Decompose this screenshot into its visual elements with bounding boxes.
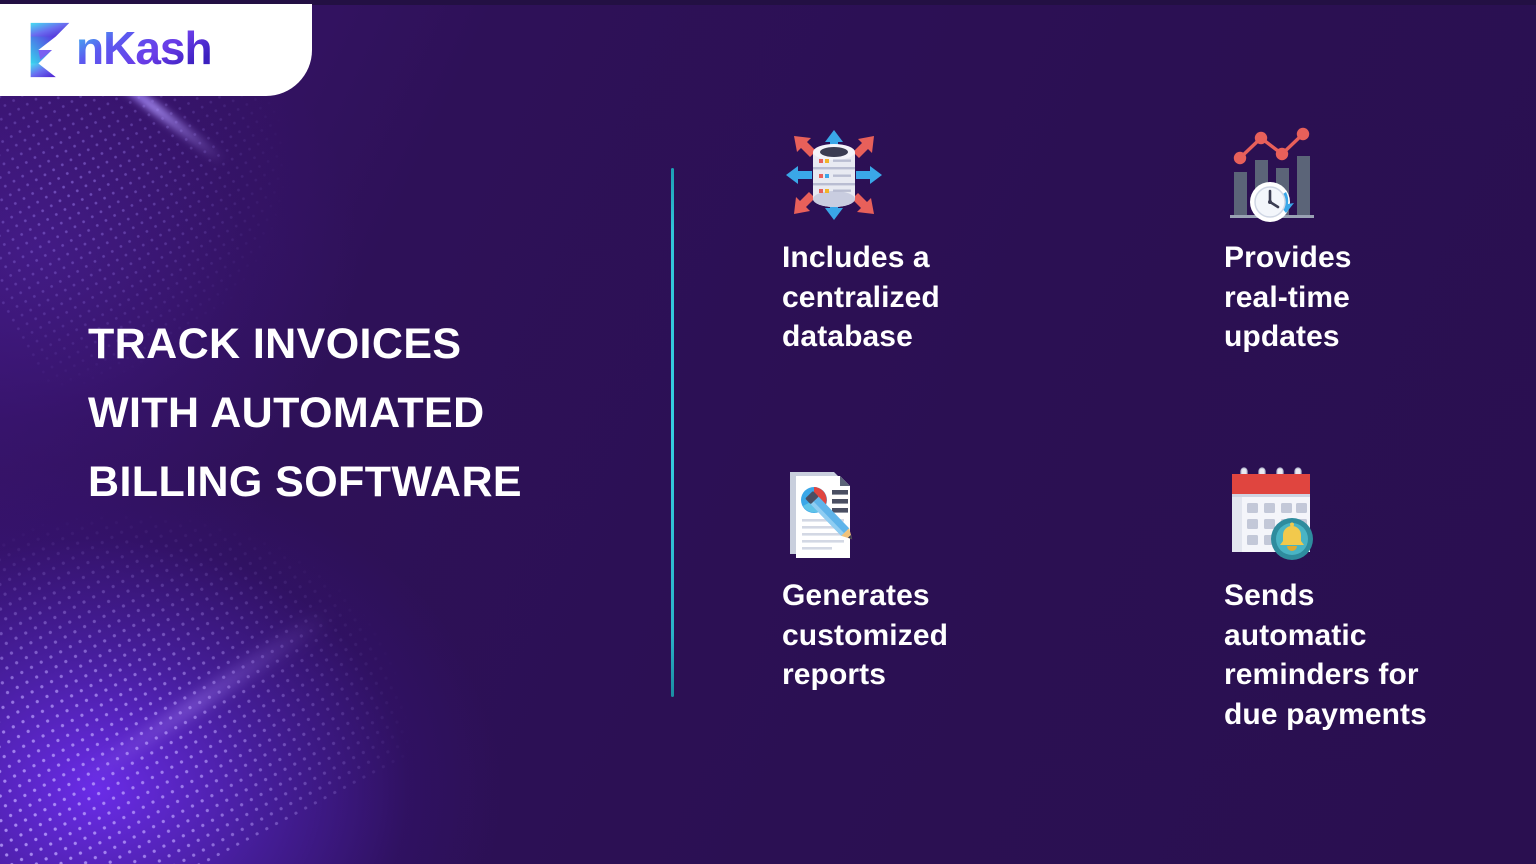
feature-icon-wrap xyxy=(1224,464,1524,562)
feature-label-line: reminders for xyxy=(1224,655,1524,695)
feature-label: Generates customized reports xyxy=(782,576,1082,695)
brand-logo-plate: nKash xyxy=(0,4,312,96)
feature-label: Includes a centralized database xyxy=(782,238,1082,357)
svg-text:nKash: nKash xyxy=(76,24,212,74)
bar-chart-clock-icon xyxy=(1224,126,1320,224)
feature-item-customized-reports: Generates customized reports xyxy=(782,464,1082,695)
infographic-slide: nKash TRACK INVOICES WITH AUTOMATED BILL… xyxy=(0,0,1536,864)
feature-icon-wrap xyxy=(782,126,1082,224)
headline-line-2: WITH AUTOMATED xyxy=(88,379,648,448)
feature-label-line: reports xyxy=(782,655,1082,695)
bell-badge xyxy=(1271,518,1313,560)
feature-label-line: real-time xyxy=(1224,278,1524,318)
feature-item-centralized-database: Includes a centralized database xyxy=(782,126,1082,357)
feature-label-line: due payments xyxy=(1224,695,1524,735)
headline-line-1: TRACK INVOICES xyxy=(88,310,648,379)
feature-item-automatic-reminders: Sends automatic reminders for due paymen… xyxy=(1224,464,1524,734)
feature-item-real-time-updates: Provides real-time updates xyxy=(1224,126,1524,357)
feature-label: Sends automatic reminders for due paymen… xyxy=(1224,576,1524,734)
feature-label-line: Provides xyxy=(1224,238,1524,278)
feature-label: Provides real-time updates xyxy=(1224,238,1524,357)
enkash-logo-mark-icon xyxy=(26,21,74,79)
calendar-bell-icon xyxy=(1224,464,1320,562)
vertical-divider xyxy=(671,168,674,697)
feature-label-line: automatic xyxy=(1224,616,1524,656)
feature-label-line: customized xyxy=(782,616,1082,656)
feature-icon-wrap xyxy=(1224,126,1524,224)
feature-label-line: centralized xyxy=(782,278,1082,318)
feature-label-line: Generates xyxy=(782,576,1082,616)
feature-label-line: updates xyxy=(1224,317,1524,357)
database-cylinder xyxy=(813,144,855,207)
database-sync-icon xyxy=(782,126,886,224)
feature-label-line: Sends xyxy=(1224,576,1524,616)
feature-label-line: database xyxy=(782,317,1082,357)
text-lines xyxy=(832,490,848,513)
feature-icon-wrap xyxy=(782,464,1082,562)
feature-label-line: Includes a xyxy=(782,238,1082,278)
brand-logo: nKash xyxy=(26,21,326,79)
headline-line-3: BILLING SOFTWARE xyxy=(88,448,648,517)
page-title: TRACK INVOICES WITH AUTOMATED BILLING SO… xyxy=(88,310,648,517)
brand-wordmark: nKash xyxy=(76,24,326,76)
report-pencil-icon xyxy=(782,464,874,562)
